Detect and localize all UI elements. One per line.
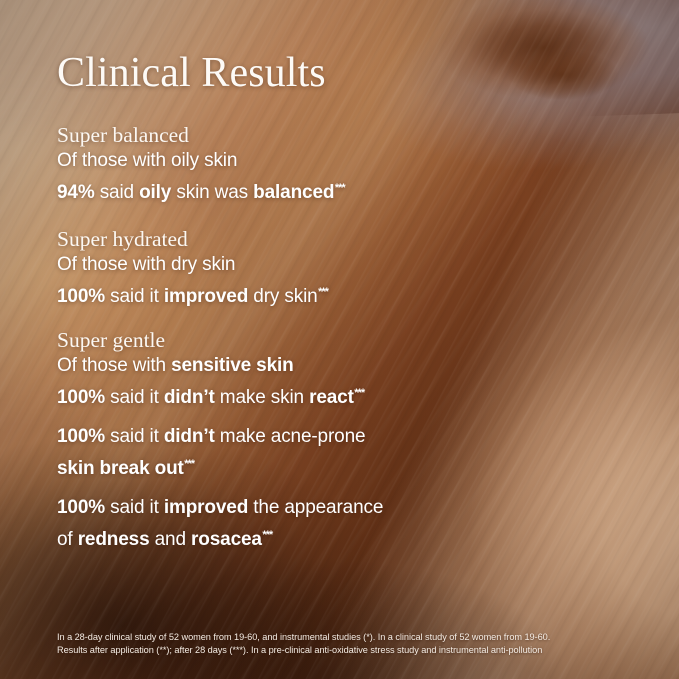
body-text: Of those with (57, 355, 171, 376)
body-text: Of those with oily skin (57, 150, 237, 171)
emphasis-text: balanced (253, 182, 334, 203)
body-text: said (95, 182, 140, 203)
body-text: said it (105, 497, 164, 518)
footnote-line-2: Results after application (**); after 28… (57, 644, 637, 657)
emphasis-text: redness (78, 529, 150, 550)
emphasis-text: skin break out (57, 458, 184, 479)
body-text: of (57, 529, 78, 550)
result-section-stat-4: 100% said it didn’t make acne-proneskin … (57, 424, 365, 482)
footnote-marker: *** (184, 458, 194, 470)
body-text: and (150, 529, 192, 550)
result-line: skin break out*** (57, 451, 365, 483)
emphasis-text: didn’t (164, 387, 215, 408)
result-section-super-gentle: Super gentleOf those with sensitive skin… (57, 327, 364, 411)
result-line: Of those with oily skin (57, 148, 345, 175)
emphasis-text: improved (164, 286, 248, 307)
page-title: Clinical Results (57, 52, 326, 94)
footnote-marker: *** (262, 529, 272, 541)
body-text: make skin (215, 387, 309, 408)
result-section-super-hydrated: Super hydratedOf those with dry skin100%… (57, 226, 328, 310)
emphasis-text: 94% (57, 182, 95, 203)
footnote-line-1: In a 28-day clinical study of 52 women f… (57, 631, 637, 644)
result-line: of redness and rosacea*** (57, 522, 383, 554)
clinical-results-card: Clinical Results Super balancedOf those … (0, 0, 679, 679)
body-text: said it (105, 387, 164, 408)
result-section-stat-5: 100% said it improved the appearanceof r… (57, 495, 383, 553)
emphasis-text: 100% (57, 497, 105, 518)
body-text: said it (105, 286, 164, 307)
result-line: Of those with sensitive skin (57, 353, 364, 380)
emphasis-text: 100% (57, 387, 105, 408)
result-section-super-balanced: Super balancedOf those with oily skin94%… (57, 122, 345, 206)
emphasis-text: oily (139, 182, 171, 203)
result-line: 100% said it didn’t make acne-prone (57, 424, 365, 451)
emphasis-text: 100% (57, 286, 105, 307)
body-text: said it (105, 426, 164, 447)
footnote-marker: *** (335, 182, 345, 194)
emphasis-text: improved (164, 497, 248, 518)
result-line: 100% said it didn’t make skin react*** (57, 380, 364, 412)
footnote-disclaimer: In a 28-day clinical study of 52 women f… (57, 631, 637, 656)
emphasis-text: didn’t (164, 426, 215, 447)
section-heading: Super hydrated (57, 226, 328, 252)
result-line: 100% said it improved dry skin*** (57, 279, 328, 311)
emphasis-text: react (309, 387, 354, 408)
body-text: make acne-prone (215, 426, 366, 447)
content-overlay: Clinical Results Super balancedOf those … (0, 0, 679, 679)
footnote-marker: *** (354, 387, 364, 399)
body-text: dry skin (248, 286, 317, 307)
footnote-marker: *** (318, 286, 328, 298)
emphasis-text: rosacea (191, 529, 262, 550)
emphasis-text: 100% (57, 426, 105, 447)
result-line: 100% said it improved the appearance (57, 495, 383, 522)
body-text: skin was (171, 182, 253, 203)
section-heading: Super balanced (57, 122, 345, 148)
section-heading: Super gentle (57, 327, 364, 353)
result-line: Of those with dry skin (57, 252, 328, 279)
body-text: the appearance (248, 497, 383, 518)
result-line: 94% said oily skin was balanced*** (57, 175, 345, 207)
body-text: Of those with dry skin (57, 254, 235, 275)
emphasis-text: sensitive skin (171, 355, 294, 376)
